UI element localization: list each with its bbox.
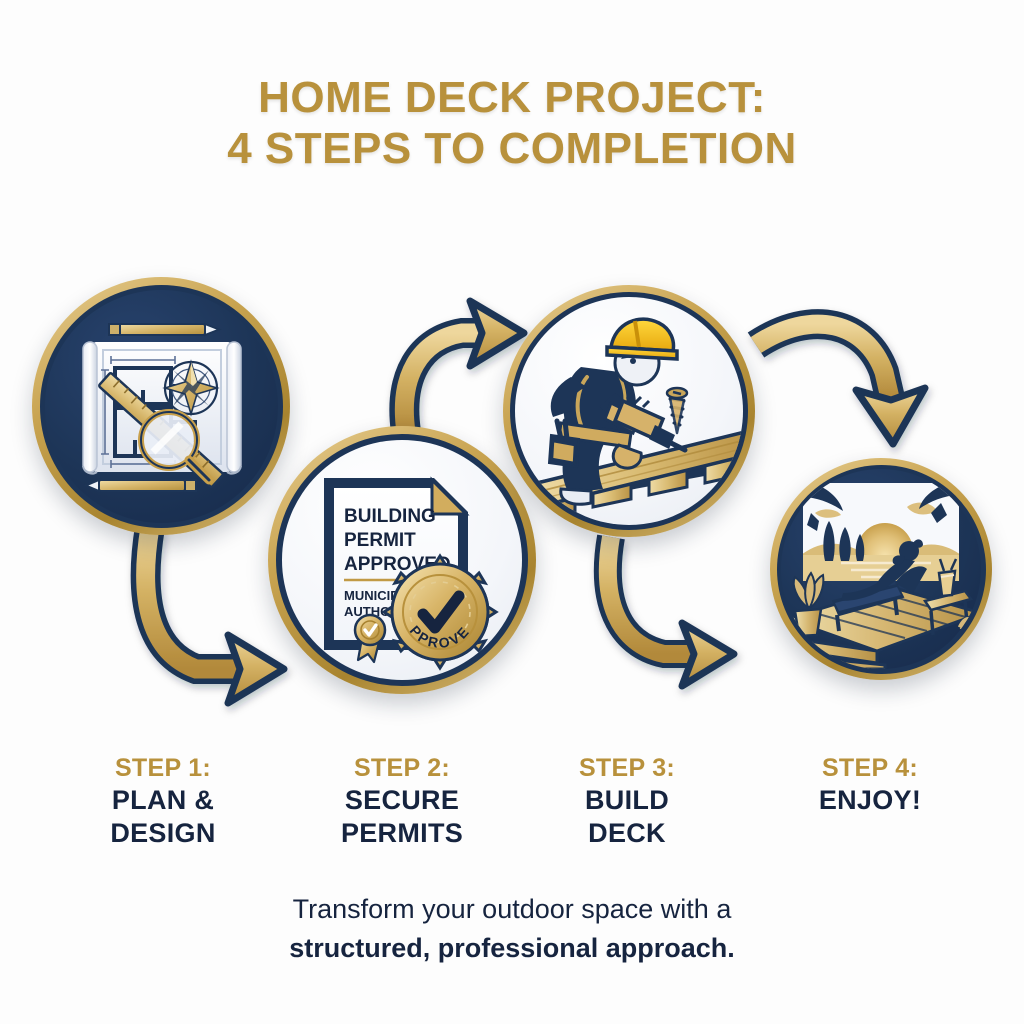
step-node-2[interactable]: BUILDING PERMIT APPROVED MUNICIPAL AUTHO… <box>268 426 536 694</box>
approved-seal-icon: APPROVED <box>384 556 496 668</box>
permit-document-icon: BUILDING PERMIT APPROVED MUNICIPAL AUTHO… <box>282 440 522 680</box>
screw-icon <box>667 388 687 433</box>
step-1-title-line-1: PLAN & <box>48 784 278 817</box>
title-line-1: HOME DECK PROJECT: <box>0 72 1024 123</box>
page-title: HOME DECK PROJECT: 4 STEPS TO COMPLETION <box>0 72 1024 174</box>
footer-line-2: structured, professional approach. <box>0 929 1024 968</box>
step-node-1[interactable] <box>32 277 290 535</box>
blueprint-icon <box>45 290 278 523</box>
arrow-step3-to-step4-under <box>608 537 734 686</box>
step-node-4[interactable] <box>770 458 992 680</box>
step-1-illustration <box>45 290 278 523</box>
step-3-title-line-1: BUILD <box>512 784 742 817</box>
step-1-number: STEP 1: <box>48 752 278 784</box>
small-rosette-icon <box>355 615 385 662</box>
step-3-title-line-2: DECK <box>512 817 742 850</box>
step-3-illustration <box>515 297 743 525</box>
step-node-3[interactable] <box>503 285 755 537</box>
step-4-title-line-1: ENJOY! <box>755 784 985 817</box>
infographic-canvas: HOME DECK PROJECT: 4 STEPS TO COMPLETION <box>0 0 1024 1024</box>
worker-building-icon <box>515 297 743 525</box>
arrow-step3-to-step4-over <box>756 324 925 444</box>
arrow-step1-to-step2 <box>146 527 284 703</box>
step-caption-3: STEP 3: BUILD DECK <box>512 752 742 850</box>
step-2-title-line-2: PERMITS <box>287 817 517 850</box>
footer-line-1: Transform your outdoor space with a <box>0 890 1024 929</box>
step-2-illustration: BUILDING PERMIT APPROVED MUNICIPAL AUTHO… <box>282 440 522 680</box>
step-caption-2: STEP 2: SECURE PERMITS <box>287 752 517 850</box>
step-2-number: STEP 2: <box>287 752 517 784</box>
step-3-number: STEP 3: <box>512 752 742 784</box>
permit-heading-1: BUILDING <box>344 506 436 527</box>
step-1-title-line-2: DESIGN <box>48 817 278 850</box>
title-line-2: 4 STEPS TO COMPLETION <box>0 123 1024 174</box>
potted-plant <box>794 573 824 636</box>
step-4-number: STEP 4: <box>755 752 985 784</box>
relaxing-deck-icon <box>781 469 981 669</box>
step-caption-4: STEP 4: ENJOY! <box>755 752 985 817</box>
step-2-title-line-1: SECURE <box>287 784 517 817</box>
step-4-illustration <box>781 469 981 669</box>
hard-hat-icon <box>607 319 677 359</box>
footer-tagline: Transform your outdoor space with a stru… <box>0 890 1024 968</box>
permit-heading-2: PERMIT <box>344 530 416 551</box>
step-caption-1: STEP 1: PLAN & DESIGN <box>48 752 278 850</box>
